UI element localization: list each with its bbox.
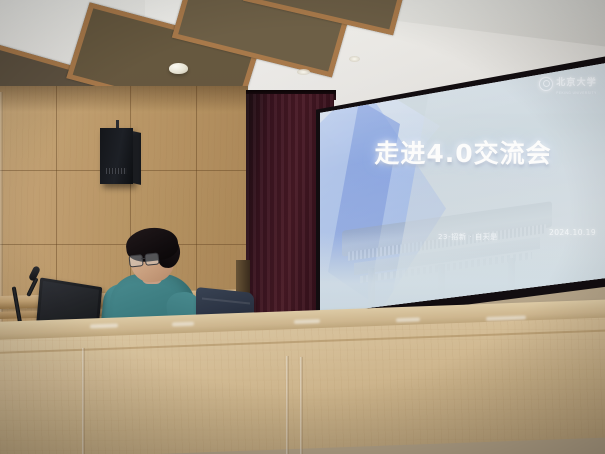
desk-seam <box>286 356 289 454</box>
slide-subtitle: 23-招新 · 自天是 <box>438 232 498 242</box>
desk-scuff <box>172 322 194 327</box>
downlight-icon <box>349 56 360 62</box>
glasses-lens <box>144 252 159 265</box>
slide-overlay-shape <box>386 60 605 318</box>
desk-scuff <box>396 317 420 322</box>
wall-shadow <box>0 86 248 112</box>
desk-scuff <box>90 323 118 328</box>
desk-seam <box>82 348 85 454</box>
glasses-icon <box>129 252 160 266</box>
speaker-side <box>132 131 141 185</box>
slide-date: 2024.10.19 <box>549 228 596 237</box>
speaker-grille <box>106 168 127 174</box>
lecture-hall-photo: 北京大学 PEKING UNIVERSITY 走进4.0交流会 23-招新 · … <box>0 0 605 454</box>
downlight-icon <box>297 69 310 75</box>
slide-title: 走进4.0交流会 <box>374 134 551 170</box>
desk-seam <box>300 357 303 454</box>
glasses-lens <box>129 254 144 267</box>
logo-name-en: PEKING UNIVERSITY <box>556 91 597 95</box>
university-logo: 北京大学 PEKING UNIVERSITY <box>539 72 597 95</box>
logo-name-cn: 北京大学 <box>556 78 597 88</box>
smoke-detector-icon <box>169 63 188 74</box>
wall-speaker <box>100 128 133 184</box>
wall-seam <box>56 86 57 296</box>
seal-icon <box>539 77 553 91</box>
desk-scuff <box>294 319 320 324</box>
